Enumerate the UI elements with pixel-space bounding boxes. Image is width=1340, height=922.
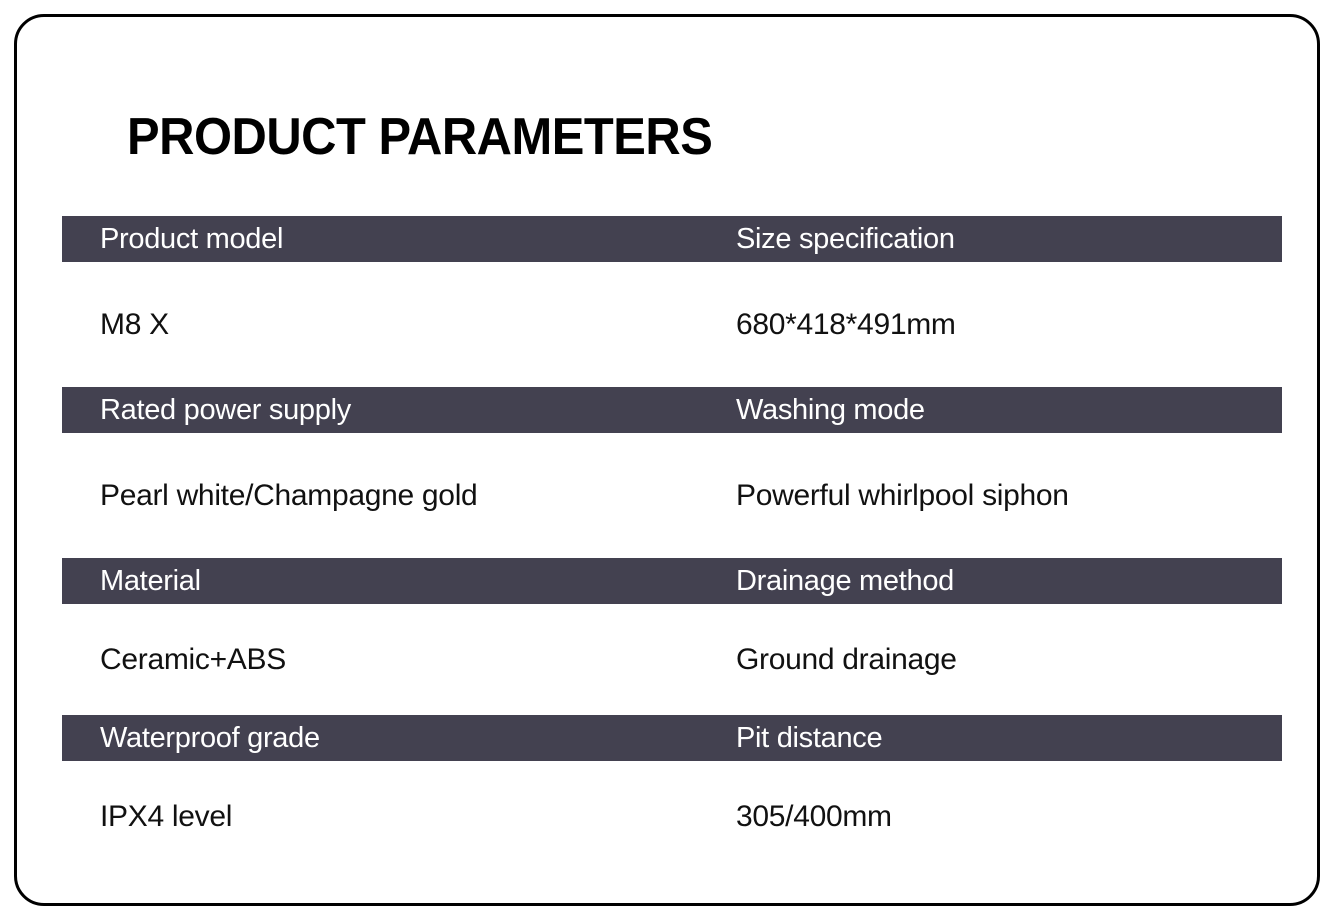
table-header-row: Product model Size specification xyxy=(62,216,1282,262)
value-cell-left: M8 X xyxy=(62,307,730,343)
value-cell-left: Pearl white/Champagne gold xyxy=(62,478,730,514)
header-cell-right: Pit distance xyxy=(730,721,1282,755)
value-cell-left: Ceramic+ABS xyxy=(62,642,730,678)
value-cell-right: Ground drainage xyxy=(730,642,1282,678)
spec-block: Waterproof grade Pit distance IPX4 level… xyxy=(62,715,1282,873)
value-cell-left: IPX4 level xyxy=(62,799,730,835)
header-cell-left: Product model xyxy=(62,222,730,256)
value-cell-right: 680*418*491mm xyxy=(730,307,1282,343)
table-value-row: M8 X 680*418*491mm xyxy=(62,262,1282,387)
value-cell-right: Powerful whirlpool siphon xyxy=(730,478,1282,514)
spec-block: Product model Size specification M8 X 68… xyxy=(62,216,1282,387)
specifications-table: Product model Size specification M8 X 68… xyxy=(62,216,1282,873)
header-cell-right: Size specification xyxy=(730,222,1282,256)
table-value-row: IPX4 level 305/400mm xyxy=(62,761,1282,873)
header-cell-right: Drainage method xyxy=(730,564,1282,598)
header-cell-right: Washing mode xyxy=(730,393,1282,427)
table-header-row: Material Drainage method xyxy=(62,558,1282,604)
table-value-row: Pearl white/Champagne gold Powerful whir… xyxy=(62,433,1282,558)
table-header-row: Waterproof grade Pit distance xyxy=(62,715,1282,761)
header-cell-left: Waterproof grade xyxy=(62,721,730,755)
table-header-row: Rated power supply Washing mode xyxy=(62,387,1282,433)
header-cell-left: Material xyxy=(62,564,730,598)
table-value-row: Ceramic+ABS Ground drainage xyxy=(62,604,1282,715)
spec-block: Material Drainage method Ceramic+ABS Gro… xyxy=(62,558,1282,715)
page-title: PRODUCT PARAMETERS xyxy=(127,106,712,168)
header-cell-left: Rated power supply xyxy=(62,393,730,427)
spec-block: Rated power supply Washing mode Pearl wh… xyxy=(62,387,1282,558)
value-cell-right: 305/400mm xyxy=(730,799,1282,835)
product-parameters-page: PRODUCT PARAMETERS Product model Size sp… xyxy=(0,0,1340,922)
